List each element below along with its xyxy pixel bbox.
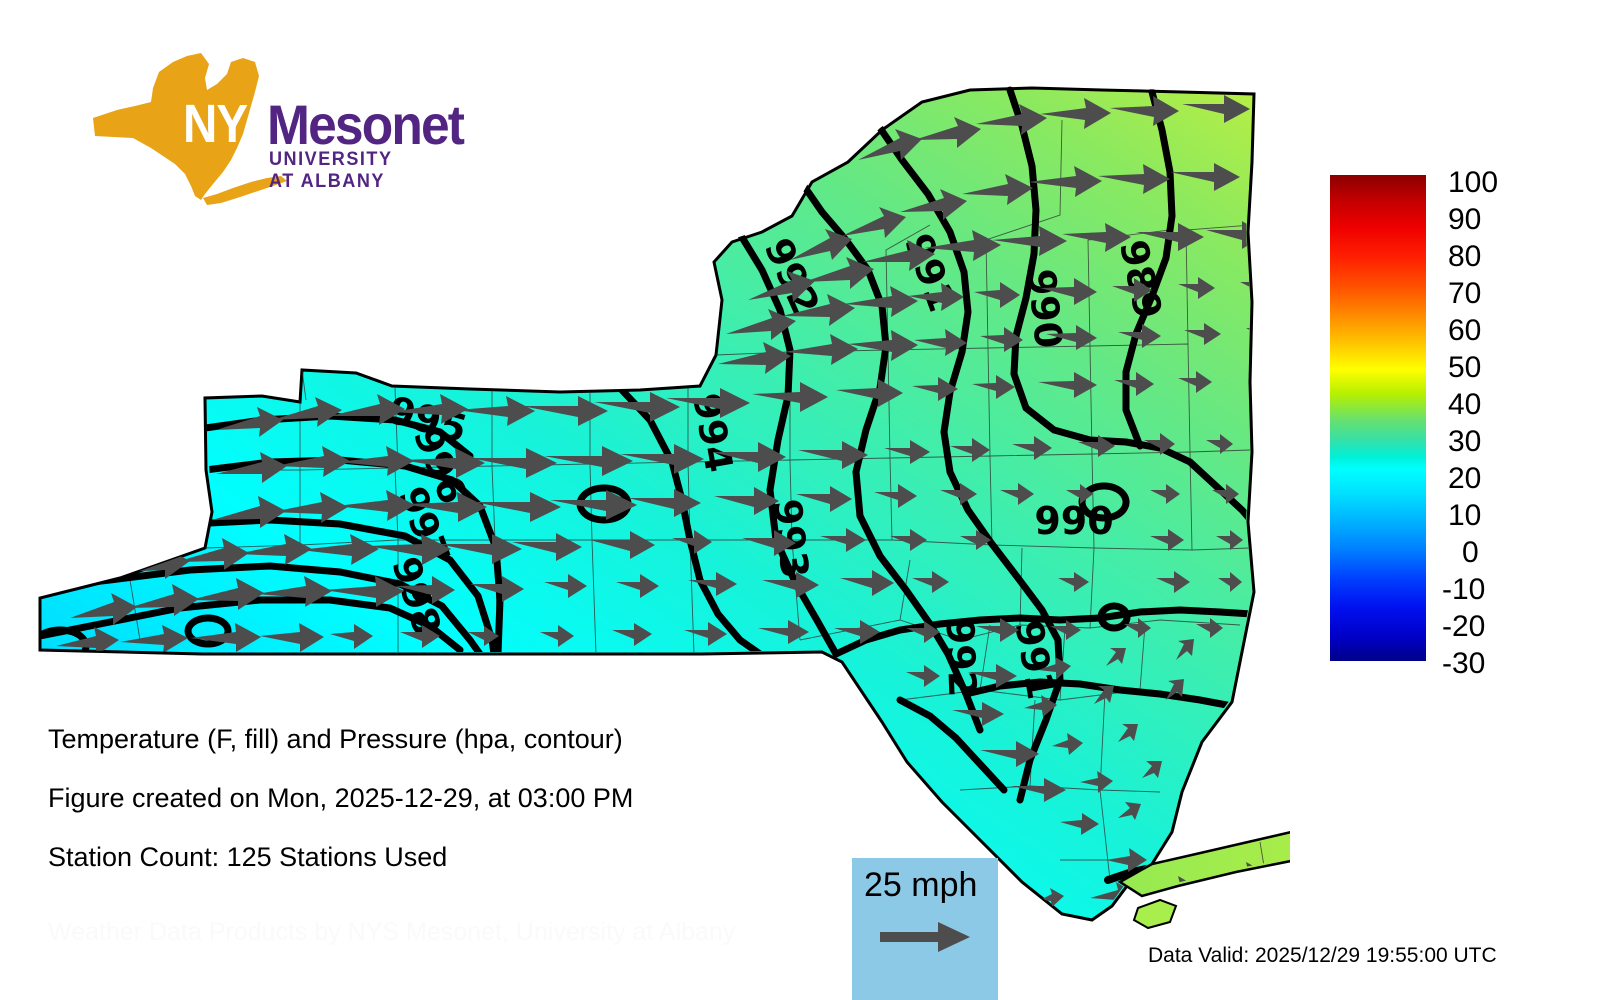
temperature-colorbar: 100 90 80 70 60 50 40 30 20 10 0 -10 -20… <box>1330 175 1560 665</box>
colorbar-tick-40: 40 <box>1448 390 1481 420</box>
colorbar-tick-10: 10 <box>1448 501 1481 531</box>
colorbar-tick-70: 70 <box>1448 279 1481 309</box>
figure-created-text: Figure created on Mon, 2025-12-29, at 03… <box>48 783 633 814</box>
colorbar-tick-30: 30 <box>1448 427 1481 457</box>
map-canvas: 998 997 996 995 994 993 992 992 991 991 … <box>0 0 1290 960</box>
colorbar-tick-neg10: -10 <box>1442 575 1485 605</box>
colorbar-tick-20: 20 <box>1448 464 1481 494</box>
colorbar-tick-neg20: -20 <box>1442 612 1485 642</box>
svg-text:992: 992 <box>938 617 985 698</box>
colorbar-tick-90: 90 <box>1448 205 1481 235</box>
colorbar-tick-50: 50 <box>1448 353 1481 383</box>
wind-scale-legend: 25 mph <box>852 858 998 1000</box>
colorbar-tick-60: 60 <box>1448 316 1481 346</box>
staten-island-fill <box>1134 900 1176 928</box>
colorbar-tick-neg30: -30 <box>1442 649 1485 679</box>
figure-title: Temperature (F, fill) and Pressure (hpa,… <box>48 724 623 755</box>
svg-text:990: 990 <box>1034 499 1113 543</box>
figure-footer-cutoff: Weather Data Products by NYS Mesonet, Un… <box>48 918 735 947</box>
weather-map[interactable]: 998 997 996 995 994 993 992 992 991 991 … <box>0 0 1290 960</box>
data-valid-timestamp: Data Valid: 2025/12/29 19:55:00 UTC <box>1148 944 1497 968</box>
colorbar-tick-0: 0 <box>1462 538 1479 568</box>
wind-scale-label: 25 mph <box>864 866 977 905</box>
colorbar-tick-80: 80 <box>1448 242 1481 272</box>
wind-scale-arrow-right-icon <box>880 920 972 959</box>
colorbar-gradient <box>1330 175 1426 661</box>
colorbar-tick-100: 100 <box>1448 168 1498 198</box>
station-count-text: Station Count: 125 Stations Used <box>48 842 447 873</box>
